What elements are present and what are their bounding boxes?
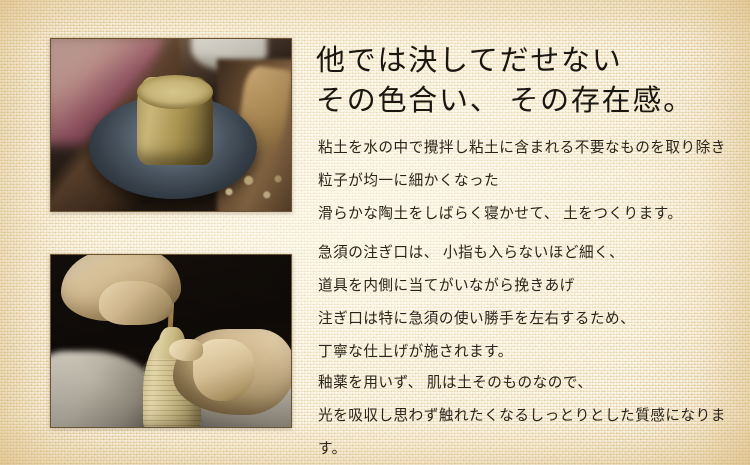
photo-vignette	[51, 255, 291, 427]
photo-scene-background	[51, 39, 291, 211]
panel-content: 他では決してだせない その色合い、 その存在感。 粘土を水の中で攪拌し粘土に含ま…	[0, 0, 750, 465]
text-column: 他では決してだせない その色合い、 その存在感。 粘土を水の中で攪拌し粘土に含ま…	[316, 0, 740, 465]
paragraph-spout-crafting: 急須の注ぎ口は、 小指も入らないほど細く、 道具を内側に当てがいながら挽きあげ …	[318, 237, 740, 369]
photo-hands-shaping-teapot-spout	[50, 254, 292, 428]
paragraph-unglazed-texture: 釉薬を用いず、 肌は土そのものなので、 光を吸収し思わず触れたくなるしっとりとし…	[318, 367, 740, 465]
photo-scene-background	[51, 255, 291, 427]
photo-vignette	[51, 39, 291, 211]
paragraph-clay-preparation: 粘土を水の中で攪拌し粘土に含まれる不要なものを取り除き 粒子が均一に細かくなった…	[318, 132, 740, 231]
promo-panel: 他では決してだせない その色合い、 その存在感。 粘土を水の中で攪拌し粘土に含ま…	[0, 0, 750, 465]
headline: 他では決してだせない その色合い、 その存在感。	[316, 41, 740, 121]
photo-clay-block-on-potters-wheel	[50, 38, 292, 212]
